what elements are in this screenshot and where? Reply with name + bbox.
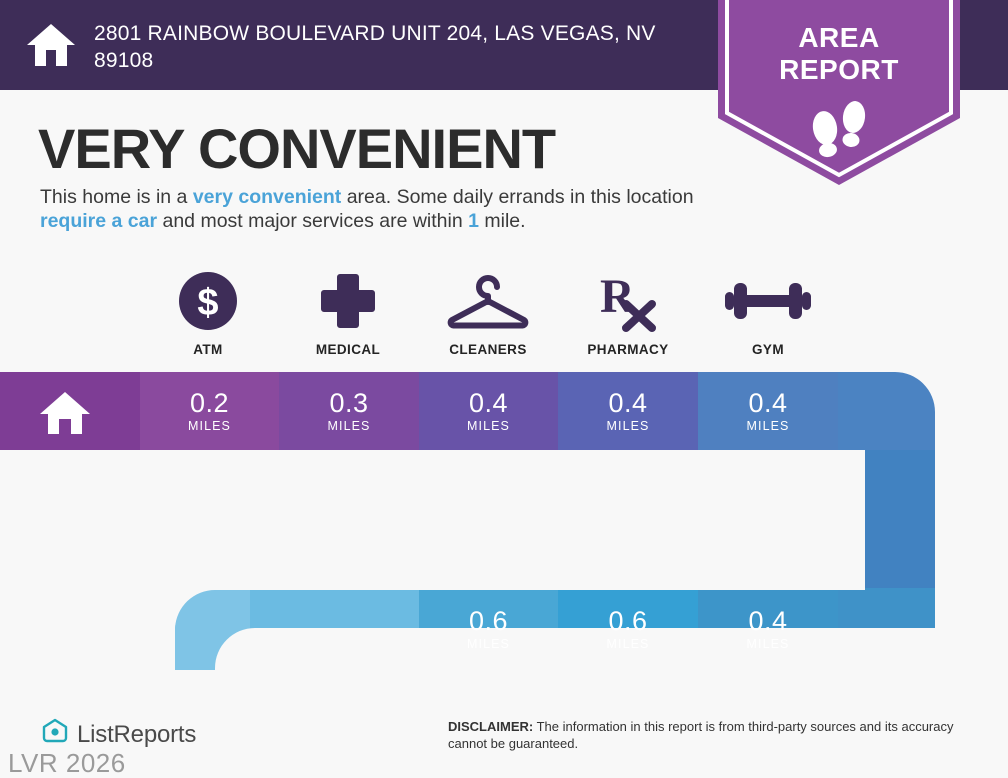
medical-cross-icon bbox=[319, 270, 377, 332]
subtitle-highlight-3: 1 bbox=[468, 210, 479, 232]
page-subtitle: This home is in a very convenient area. … bbox=[40, 185, 720, 233]
area-report-page: 2801 RAINBOW BOULEVARD UNIT 204, LAS VEG… bbox=[0, 0, 1008, 778]
rx-icon: R bbox=[596, 270, 660, 332]
atm-dollar-icon: $ bbox=[178, 270, 238, 332]
snake-connector-right bbox=[860, 450, 940, 595]
distance-value-cleaners: 0.4 MILES bbox=[419, 370, 558, 452]
distance-value-medical: 0.3 MILES bbox=[279, 370, 419, 452]
home-icon bbox=[26, 22, 76, 68]
amenity-label: GYM bbox=[752, 342, 784, 357]
distance-value-atm: 0.2 MILES bbox=[140, 370, 279, 452]
brand-name: ListReports bbox=[77, 721, 196, 749]
watermark-text: LVR 2026 bbox=[8, 748, 126, 778]
subtitle-part-2: area. Some daily errands in this locatio… bbox=[341, 186, 693, 208]
subtitle-part-1: This home is in a bbox=[40, 186, 193, 208]
disclaimer: DISCLAIMER: The information in this repo… bbox=[448, 718, 988, 752]
header-address-block: 2801 RAINBOW BOULEVARD UNIT 204, LAS VEG… bbox=[26, 20, 688, 74]
amenity-label: CLEANERS bbox=[449, 342, 526, 357]
amenity-label: ATM bbox=[193, 342, 222, 357]
page-title: VERY CONVENIENT bbox=[38, 118, 555, 180]
distance-value-movie: 0.6 MILES bbox=[558, 588, 698, 670]
amenity-label: MEDICAL bbox=[316, 342, 380, 357]
property-address: 2801 RAINBOW BOULEVARD UNIT 204, LAS VEG… bbox=[94, 20, 688, 74]
amenity-icon-row-1: $ ATM MEDICAL CLEANERS bbox=[138, 270, 838, 357]
amenity-label: PHARMACY bbox=[587, 342, 668, 357]
disclaimer-label: DISCLAIMER: bbox=[448, 719, 533, 734]
distance-value-pharmacy: 0.4 MILES bbox=[558, 370, 698, 452]
subtitle-highlight-2: require a car bbox=[40, 210, 157, 232]
amenity-cleaners: CLEANERS bbox=[418, 270, 558, 357]
svg-text:$: $ bbox=[197, 282, 218, 324]
amenity-gym: GYM bbox=[698, 270, 838, 357]
dumbbell-icon bbox=[725, 270, 811, 332]
badge-text: AREA REPORT bbox=[718, 22, 960, 86]
listreports-logo-icon bbox=[42, 718, 68, 751]
badge-line-2: REPORT bbox=[718, 54, 960, 86]
snake-inner-notch bbox=[0, 452, 865, 588]
svg-text:R: R bbox=[600, 270, 636, 323]
amenity-atm: $ ATM bbox=[138, 270, 278, 357]
subtitle-part-4: mile. bbox=[479, 210, 526, 232]
distance-snake-chart: 0.2 MILES 0.3 MILES 0.4 MILES 0.4 MILES … bbox=[0, 370, 1008, 670]
snake-tail-row1 bbox=[838, 370, 1008, 452]
distance-value-gas: 0.4 MILES bbox=[698, 588, 838, 670]
distance-value-coffee: 0.6 MILES bbox=[419, 588, 558, 670]
distance-value-gym: 0.4 MILES bbox=[698, 370, 838, 452]
brand-logo: ListReports bbox=[42, 718, 196, 751]
area-report-badge: AREA REPORT bbox=[718, 0, 960, 185]
amenity-pharmacy: R PHARMACY bbox=[558, 270, 698, 357]
hanger-icon bbox=[445, 270, 531, 332]
subtitle-highlight-1: very convenient bbox=[193, 186, 341, 208]
subtitle-part-3: and most major services are within bbox=[157, 210, 468, 232]
amenity-medical: MEDICAL bbox=[278, 270, 418, 357]
badge-line-1: AREA bbox=[718, 22, 960, 54]
